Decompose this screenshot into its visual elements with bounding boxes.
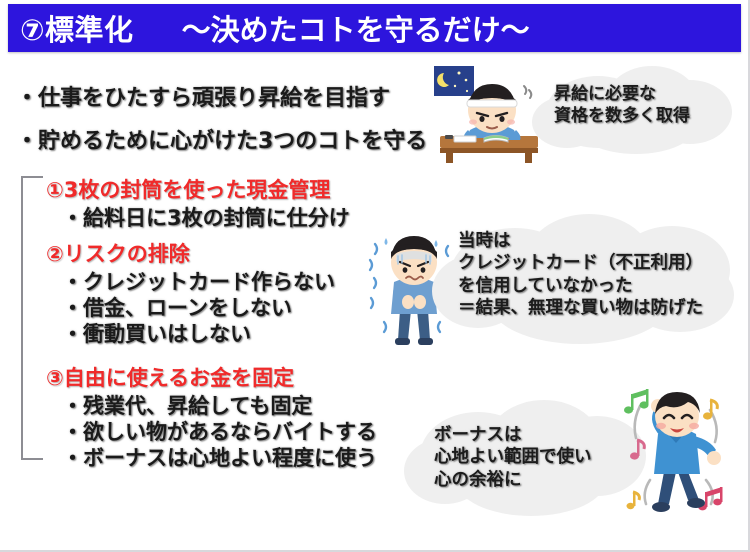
- music-note-icon: [698, 487, 722, 510]
- callout-text: 当時は クレジットカード（不正利用） を信用していなかった ＝結果、無理な買い物…: [458, 230, 703, 320]
- raise-qualifications-callout: 昇給に必要な 資格を数多く取得: [528, 62, 740, 158]
- presentation-slide: ⑦標準化 ～決めたコトを守るだけ～ ・仕事をひたすら頑張り昇給を目指す ・貯める…: [0, 0, 750, 552]
- callout-text: 昇給に必要な 資格を数多く取得: [554, 84, 690, 128]
- callout-text: ボーナスは 心地よい範囲で使い 心の余裕に: [434, 424, 592, 491]
- dancing-happy-man-illustration: [606, 376, 746, 526]
- slide-title-subtitle: ～決めたコトを守るだけ～: [182, 7, 530, 49]
- lead-bullet-0: ・仕事をひたすら頑張り昇給を目指す: [16, 80, 390, 112]
- music-note-icon: [630, 440, 644, 460]
- credit-card-distrust-callout: 当時は クレジットカード（不正利用） を信用していなかった ＝結果、無理な買い物…: [430, 212, 748, 348]
- group-1-item-0: ・給料日に3枚の封筒に仕分け: [62, 202, 350, 232]
- lead-bullet-1: ・貯めるために心がけた3つのコトを守る: [16, 123, 427, 155]
- group-bracket: [21, 176, 43, 460]
- group-2-item-2: ・衝動買いはしない: [62, 318, 251, 348]
- slide-title-number: ⑦標準化: [20, 7, 134, 49]
- group-heading-3: ③自由に使えるお金を固定: [46, 362, 294, 392]
- group-3-item-2: ・ボーナスは心地よい程度に使う: [62, 442, 377, 472]
- music-note-icon: [703, 400, 717, 420]
- group-heading-1: ①3枚の封筒を使った現金管理: [46, 174, 330, 204]
- group-heading-2: ②リスクの排除: [46, 238, 190, 268]
- slide-title-bar: ⑦標準化 ～決めたコトを守るだけ～: [8, 4, 741, 52]
- music-note-icon: [627, 492, 640, 509]
- music-note-icon: [624, 389, 649, 414]
